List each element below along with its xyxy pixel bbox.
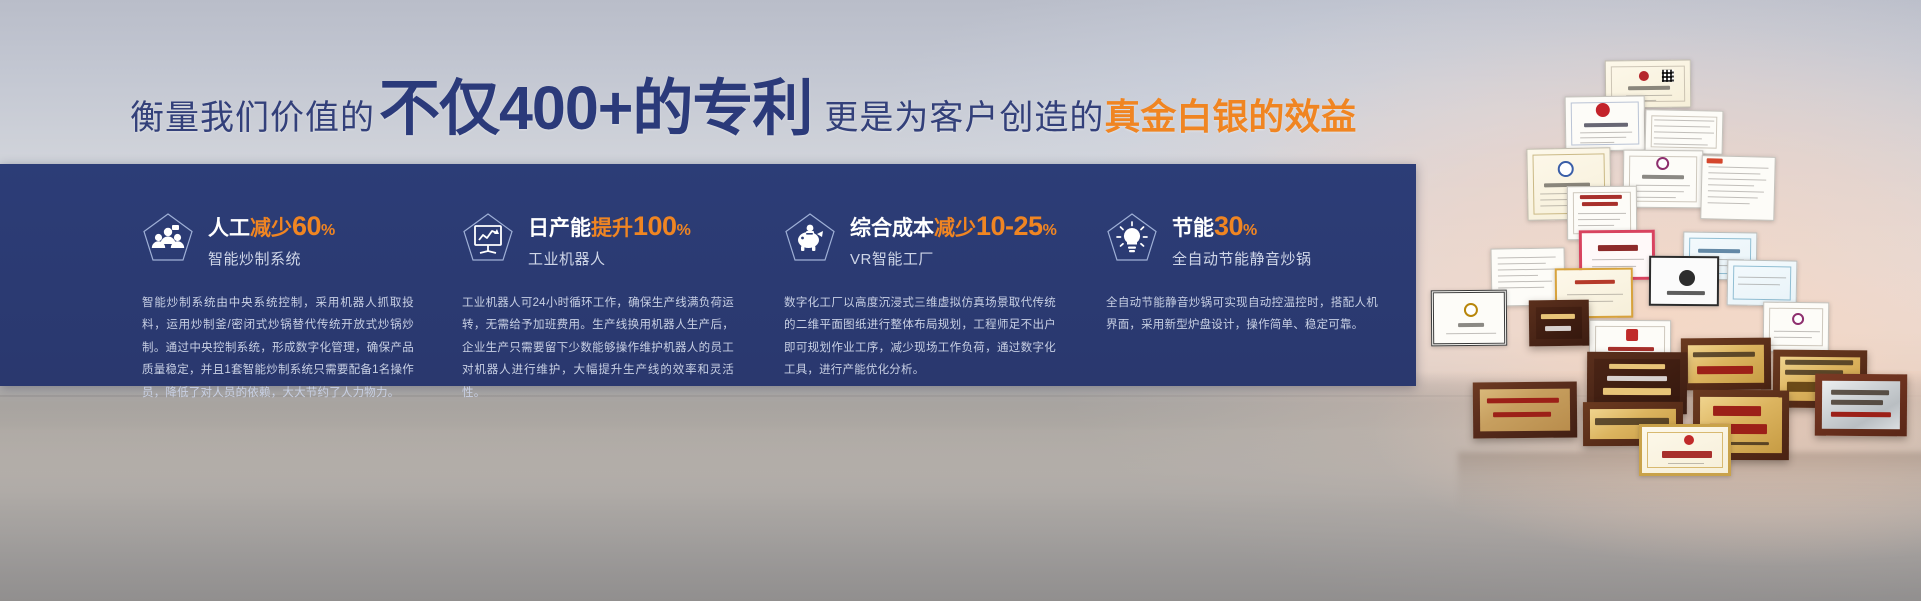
feature-title-label: 节能 <box>1172 217 1214 240</box>
feature-title: 综合成本减少10-25% <box>850 211 1057 242</box>
feature-body: 数字化工厂以高度沉浸式三维虚拟仿真场景取代传统的二维平面图纸进行整体布局规划，工… <box>784 292 1056 382</box>
piggy-bank-icon <box>784 212 836 268</box>
feature-subtitle: 工业机器人 <box>528 248 691 269</box>
feature-title-label: 人工 <box>208 217 250 240</box>
feature-title-percent: % <box>1043 222 1057 239</box>
headline-emphasis: 不仅400+的专利 <box>375 78 816 139</box>
feature-text: 人工减少60% 智能炒制系统 <box>208 211 335 268</box>
certificate-paper <box>1645 109 1724 155</box>
page-title: 衡量我们价值的 不仅400+的专利 更是为客户创造的 真金白银的效益 <box>130 78 1356 139</box>
feature-title-percent: % <box>677 222 691 239</box>
feature-title: 日产能提升100% <box>528 211 691 242</box>
headline-prefix: 衡量我们价值的 <box>130 101 375 135</box>
feature-title-percent: % <box>1243 222 1257 239</box>
feature-subtitle: 全自动节能静音炒锅 <box>1172 248 1312 269</box>
certificate-paper <box>1565 95 1646 151</box>
feature-title-number: 100 <box>633 211 677 241</box>
banner-stage: 衡量我们价值的 不仅400+的专利 更是为客户创造的 真金白银的效益 <box>0 0 1921 601</box>
award-plaque <box>1681 338 1771 391</box>
certificate-paper <box>1431 290 1507 347</box>
feature-title-number: 60 <box>292 211 321 241</box>
feature-title: 人工减少60% <box>208 211 335 242</box>
certificate-paper <box>1700 155 1776 221</box>
feature-item-labor[interactable]: 人工减少60% 智能炒制系统 智能炒制系统由中央系统控制，采用机器人抓取投料，运… <box>142 164 462 386</box>
feature-title-number: 30 <box>1214 211 1243 241</box>
people-group-icon <box>142 212 194 268</box>
feature-text: 日产能提升100% 工业机器人 <box>528 211 691 268</box>
feature-body: 全自动节能静音炒锅可实现自动控温控时，搭配人机界面，采用新型炉盘设计，操作简单、… <box>1106 292 1378 337</box>
feature-header: 节能30% 全自动节能静音炒锅 <box>1106 212 1426 268</box>
award-plaque <box>1473 382 1577 439</box>
features-panel: 人工减少60% 智能炒制系统 智能炒制系统由中央系统控制，采用机器人抓取投料，运… <box>0 164 1416 386</box>
feature-title-verb: 减少 <box>250 217 292 240</box>
feature-item-capacity[interactable]: 日产能提升100% 工业机器人 工业机器人可24小时循环工作，确保生产线满负荷运… <box>462 164 782 386</box>
headline-highlight: 真金白银的效益 <box>1104 99 1356 135</box>
feature-item-cost[interactable]: 综合成本减少10-25% VR智能工厂 数字化工厂以高度沉浸式三维虚拟仿真场景取… <box>784 164 1104 386</box>
feature-text: 节能30% 全自动节能静音炒锅 <box>1172 211 1312 268</box>
feature-title-verb: 减少 <box>934 217 976 240</box>
feature-header: 人工减少60% 智能炒制系统 <box>142 212 462 268</box>
feature-title: 节能30% <box>1172 211 1312 242</box>
feature-text: 综合成本减少10-25% VR智能工厂 <box>850 211 1057 268</box>
feature-item-energy[interactable]: 节能30% 全自动节能静音炒锅 全自动节能静音炒锅可实现自动控温控时，搭配人机界… <box>1106 164 1426 386</box>
feature-header: 日产能提升100% 工业机器人 <box>462 212 782 268</box>
feature-body: 工业机器人可24小时循环工作，确保生产线满负荷运转，无需给予加班费用。生产线换用… <box>462 292 734 404</box>
feature-title-label: 日产能 <box>528 217 591 240</box>
certificate-collage <box>1407 52 1921 482</box>
award-plaque <box>1815 374 1907 437</box>
certificate-paper <box>1639 424 1731 476</box>
certificate-paper <box>1649 256 1719 306</box>
feature-title-number: 10-25 <box>976 211 1043 241</box>
feature-header: 综合成本减少10-25% VR智能工厂 <box>784 212 1104 268</box>
feature-title-verb: 提升 <box>591 217 633 240</box>
features-list: 人工减少60% 智能炒制系统 智能炒制系统由中央系统控制，采用机器人抓取投料，运… <box>0 164 1416 386</box>
chart-board-icon <box>462 212 514 268</box>
headline-middle: 更是为客户创造的 <box>816 101 1104 135</box>
feature-body: 智能炒制系统由中央系统控制，采用机器人抓取投料，运用炒制釜/密闭式炒锅替代传统开… <box>142 292 414 404</box>
award-plaque <box>1529 300 1589 347</box>
feature-subtitle: 智能炒制系统 <box>208 248 335 269</box>
certificate-paper <box>1727 259 1798 306</box>
certificate-paper <box>1763 302 1830 353</box>
feature-title-percent: % <box>321 222 335 239</box>
feature-title-label: 综合成本 <box>850 217 934 240</box>
lightbulb-icon <box>1106 212 1158 268</box>
feature-subtitle: VR智能工厂 <box>850 248 1057 269</box>
